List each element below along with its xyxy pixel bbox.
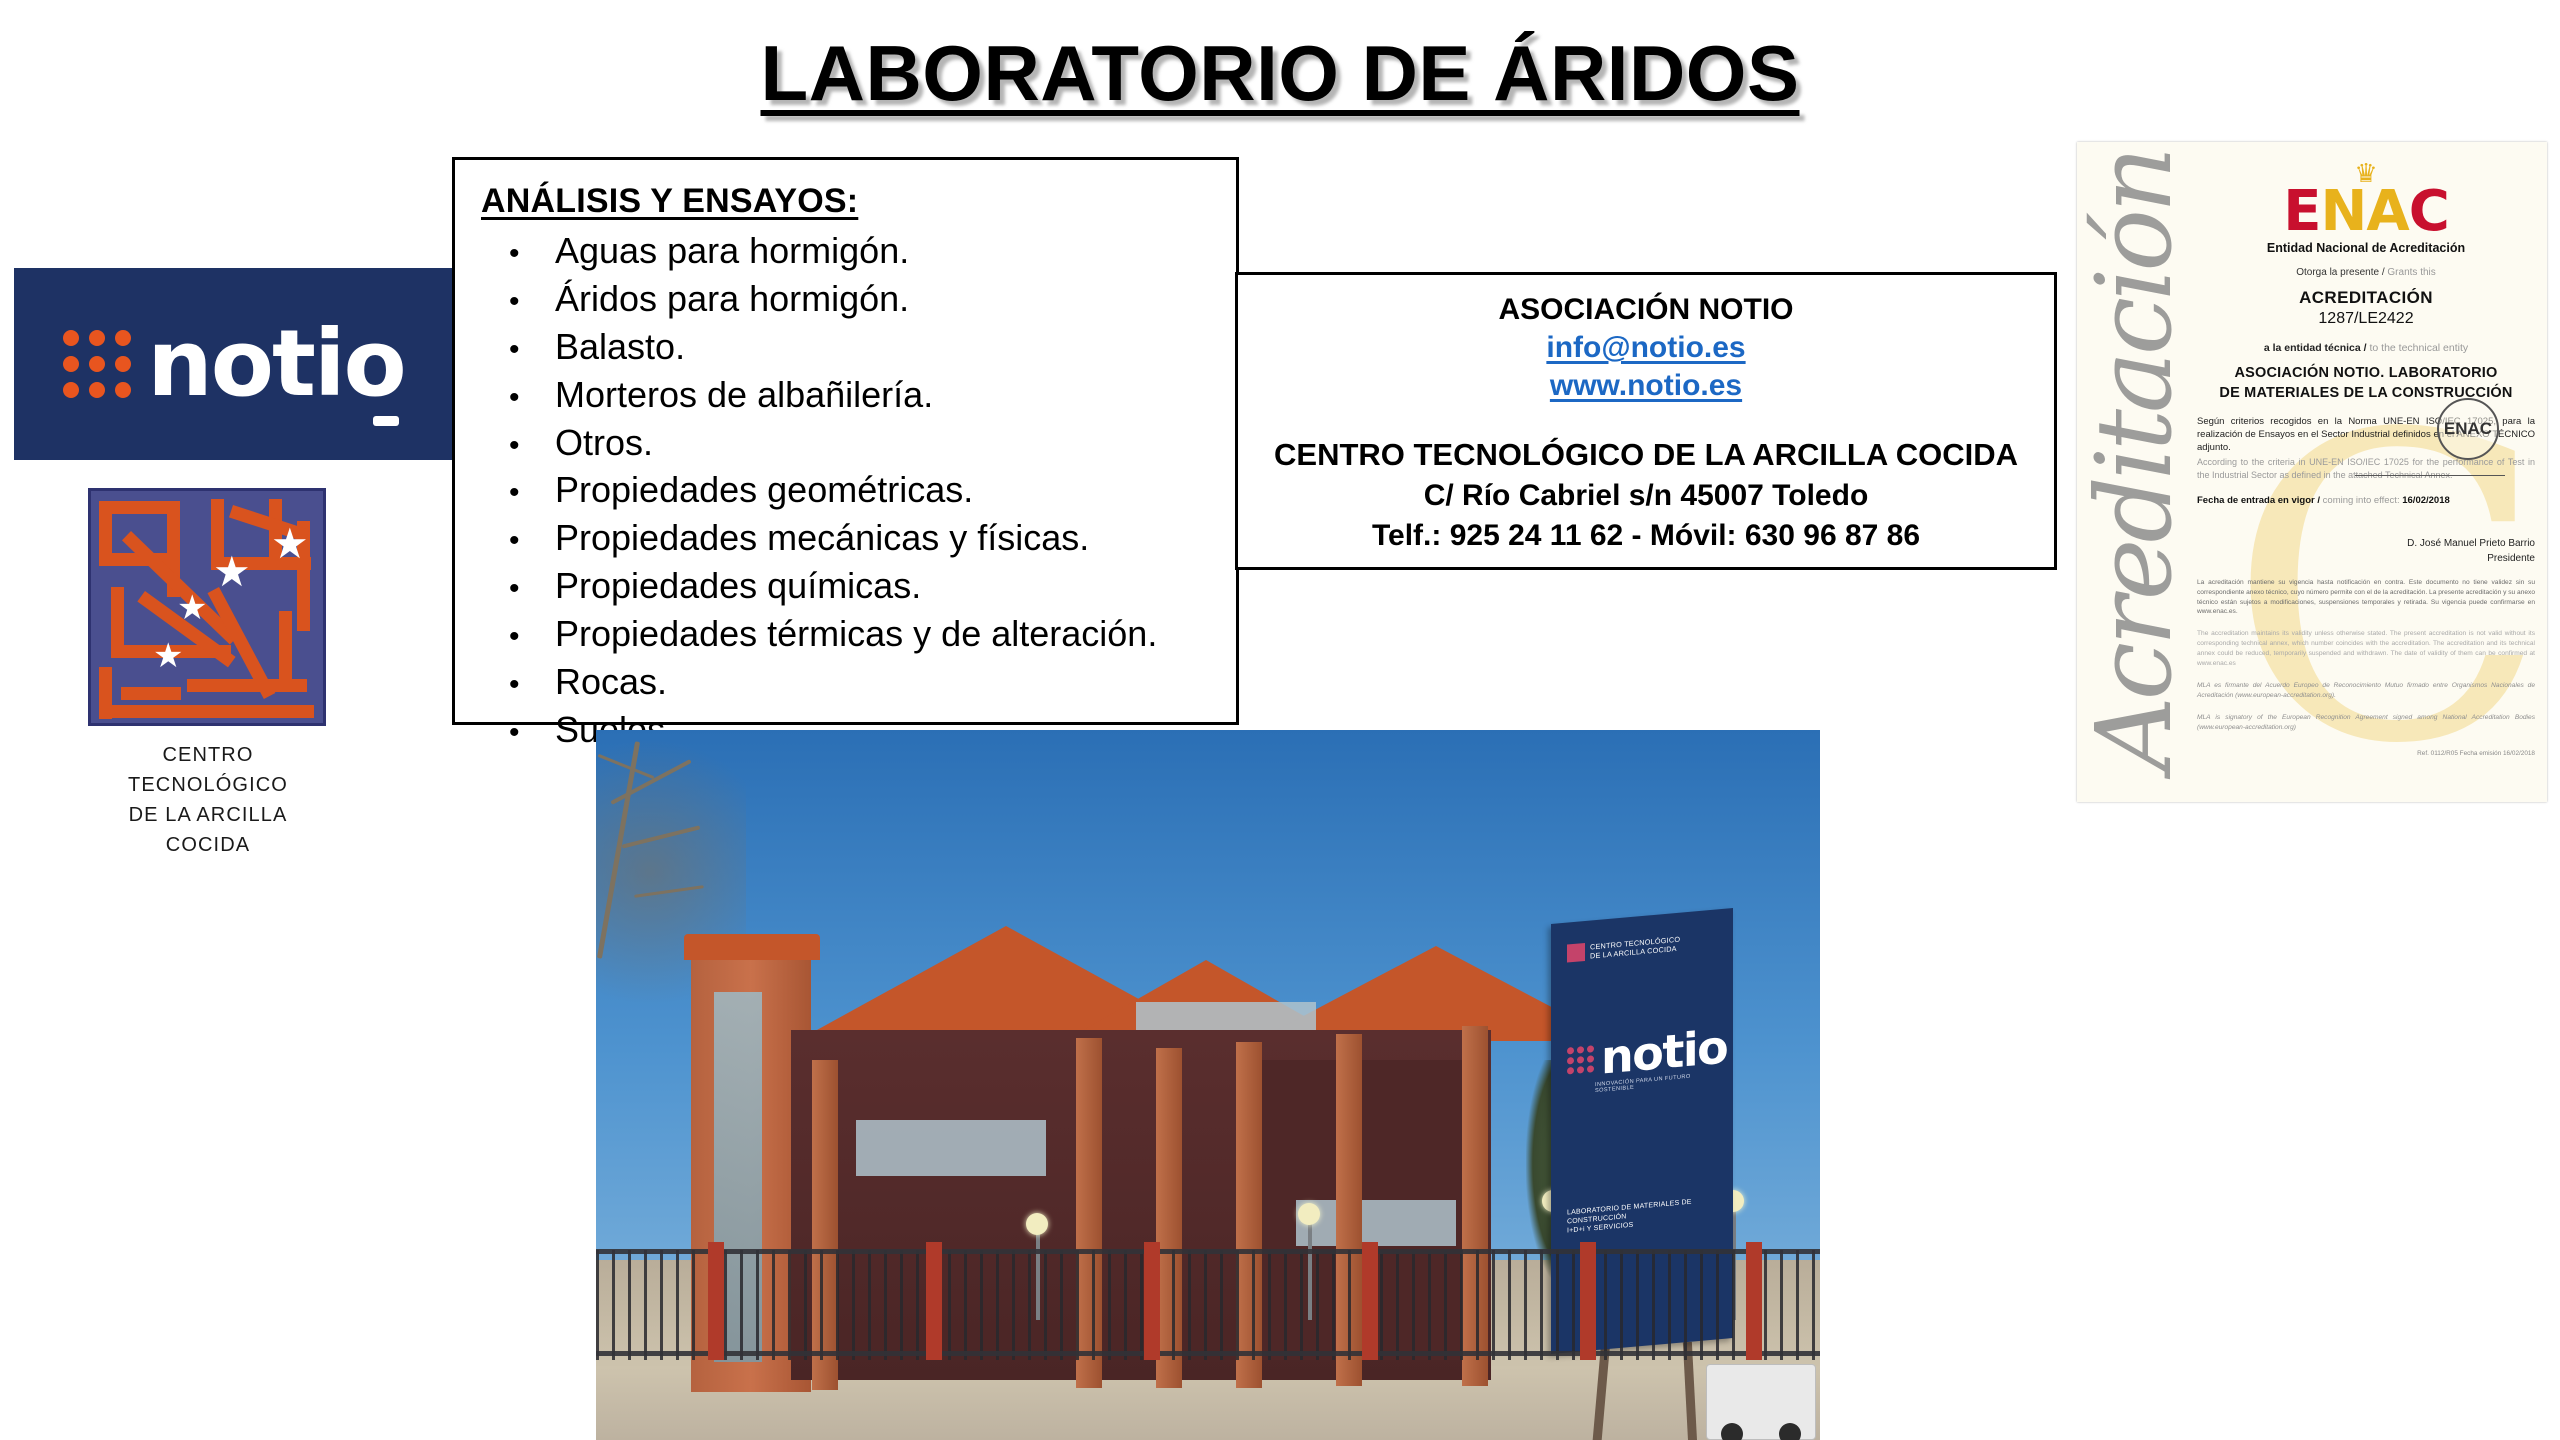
fence-post bbox=[926, 1242, 942, 1360]
slide-canvas: LABORATORIO DE ÁRIDOS notio bbox=[0, 0, 2560, 1440]
email-link[interactable]: info@notio.es bbox=[1238, 331, 2054, 365]
accredited-entity: ASOCIACIÓN NOTIO. LABORATORIO DE MATERIA… bbox=[2197, 364, 2535, 403]
phone-numbers: Telf.: 925 24 11 62 - Móvil: 630 96 87 8… bbox=[1238, 519, 2054, 553]
signature-line bbox=[2355, 460, 2505, 476]
list-item: •Morteros de albañilería. bbox=[481, 371, 1218, 419]
effective-date-value: 16/02/2018 bbox=[2402, 495, 2450, 506]
certificate-footer-ref: Ref. 0112/R05 Fecha emisión 16/02/2018 bbox=[2197, 750, 2535, 757]
list-item-label: Propiedades térmicas y de alteración. bbox=[555, 610, 1157, 658]
list-item-label: Otros. bbox=[555, 419, 653, 467]
center-name: CENTRO TECNOLÓGICO DE LA ARCILLA COCIDA bbox=[1238, 437, 2054, 473]
analysis-heading: ANÁLISIS Y ENSAYOS: bbox=[481, 182, 1218, 221]
bullet-icon: • bbox=[509, 234, 555, 274]
accreditation-number: 1287/LE2422 bbox=[2197, 310, 2535, 328]
entity-label: a la entidad técnica / to the technical … bbox=[2197, 342, 2535, 354]
enac-letter-a: A bbox=[2366, 179, 2408, 244]
list-item: •Propiedades geométricas. bbox=[481, 466, 1218, 514]
postal-address: C/ Río Cabriel s/n 45007 Toledo bbox=[1238, 479, 2054, 513]
list-item: •Propiedades térmicas y de alteración. bbox=[481, 610, 1218, 658]
bullet-icon: • bbox=[509, 378, 555, 418]
sign-bottom-text: LABORATORIO DE MATERIALES DE CONSTRUCCIÓ… bbox=[1567, 1195, 1721, 1236]
bullet-icon: • bbox=[509, 665, 555, 705]
fence-rail bbox=[596, 1351, 1820, 1356]
contact-info-box: ASOCIACIÓN NOTIO info@notio.es www.notio… bbox=[1235, 272, 2057, 570]
fence-post bbox=[1580, 1242, 1596, 1360]
notio-wordmark: notio bbox=[147, 318, 404, 410]
nine-dot-grid-icon bbox=[1567, 1046, 1594, 1075]
list-item-label: Propiedades geométricas. bbox=[555, 466, 973, 514]
list-item: •Balasto. bbox=[481, 323, 1218, 371]
entity-label-en: to the technical entity bbox=[2369, 342, 2468, 354]
fine-print-mla-es: MLA es firmante del Acuerdo Europeo de R… bbox=[2197, 681, 2535, 701]
list-item-label: Propiedades mecánicas y físicas. bbox=[555, 514, 1089, 562]
president-name: D. José Manuel Prieto Barrio bbox=[2197, 536, 2535, 551]
headquarters-photo: CENTRO TECNOLÓGICO DE LA ARCILLA COCIDA … bbox=[596, 730, 1820, 1440]
list-item-label: Propiedades químicas. bbox=[555, 562, 921, 610]
bullet-icon: • bbox=[509, 569, 555, 609]
entity-label-es: a la entidad técnica / bbox=[2264, 342, 2367, 354]
list-item: •Propiedades químicas. bbox=[481, 562, 1218, 610]
list-item-label: Aguas para hormigón. bbox=[555, 227, 909, 275]
list-item: •Otros. bbox=[481, 419, 1218, 467]
accreditation-label: ACREDITACIÓN bbox=[2197, 288, 2535, 308]
enac-stamp-icon: ENAC bbox=[2437, 398, 2499, 460]
ctac-caption-line-1: CENTRO TECNOLÓGICO bbox=[88, 740, 328, 800]
window-band bbox=[856, 1120, 1046, 1176]
website-link[interactable]: www.notio.es bbox=[1238, 369, 2054, 403]
window-band bbox=[1136, 1002, 1316, 1030]
sign-ctac-text: CENTRO TECNOLÓGICO DE LA ARCILLA COCIDA bbox=[1590, 935, 1680, 961]
ctac-tile-icon bbox=[1567, 943, 1585, 963]
grants-label: Otorga la presente / Grants this bbox=[2197, 267, 2535, 278]
lamp-globe bbox=[1298, 1203, 1320, 1225]
enac-stamp-text: ENAC bbox=[2444, 419, 2492, 439]
bullet-icon: • bbox=[509, 330, 555, 370]
list-item: •Propiedades mecánicas y físicas. bbox=[481, 514, 1218, 562]
enac-accreditation-certificate: Acreditación C ♛ ENAC Entidad Nacional d… bbox=[2077, 142, 2547, 802]
list-item-label: Áridos para hormigón. bbox=[555, 275, 909, 323]
organization-name: ASOCIACIÓN NOTIO bbox=[1238, 293, 2054, 327]
fine-print-es: La acreditación mantiene su vigencia has… bbox=[2197, 578, 2535, 618]
lightbulb-stem-icon bbox=[373, 416, 399, 426]
list-item-label: Morteros de albañilería. bbox=[555, 371, 933, 419]
bullet-icon: • bbox=[509, 521, 555, 561]
sign-notio-block: notio bbox=[1567, 1027, 1721, 1082]
list-item: •Aguas para hormigón. bbox=[481, 227, 1218, 275]
nine-dot-grid-icon bbox=[63, 330, 131, 398]
fine-print-mla-en: MLA is signatory of the European Recogni… bbox=[2197, 713, 2535, 733]
enac-letter-n: N bbox=[2320, 179, 2366, 244]
page-title: LABORATORIO DE ÁRIDOS bbox=[0, 28, 2560, 119]
parked-truck bbox=[1706, 1364, 1816, 1440]
fence-post bbox=[1746, 1242, 1762, 1360]
notio-logo: notio bbox=[14, 268, 454, 460]
ctac-logo: ★ ★ ★ ★ CENTRO TECNOLÓGICO DE LA ARCILLA… bbox=[88, 488, 328, 860]
effective-date-row: Fecha de entrada en vigor / coming into … bbox=[2197, 495, 2535, 506]
sign-notio-wordmark: notio bbox=[1601, 1027, 1727, 1079]
enac-letter-c: C bbox=[2409, 179, 2449, 244]
tower-roof bbox=[684, 934, 820, 960]
list-item: •Áridos para hormigón. bbox=[481, 275, 1218, 323]
analysis-and-tests-box: ANÁLISIS Y ENSAYOS: •Aguas para hormigón… bbox=[452, 157, 1239, 725]
lamp-globe bbox=[1026, 1213, 1048, 1235]
enac-letter-e: E bbox=[2283, 179, 2320, 244]
ctac-caption-line-2: DE LA ARCILLA COCIDA bbox=[88, 800, 328, 860]
enac-subtitle: Entidad Nacional de Acreditación bbox=[2197, 241, 2535, 255]
effective-label-es: Fecha de entrada en vigor / bbox=[2197, 495, 2320, 506]
bullet-icon: • bbox=[509, 713, 555, 753]
certificate-watermark: Acreditación bbox=[2077, 150, 2195, 771]
ctac-tile-pattern-icon: ★ ★ ★ ★ bbox=[88, 488, 326, 726]
entity-line-2: DE MATERIALES DE LA CONSTRUCCIÓN bbox=[2197, 384, 2535, 404]
fence-post bbox=[1362, 1242, 1378, 1360]
window-band bbox=[1296, 1200, 1456, 1246]
fence-rail bbox=[596, 1249, 1820, 1254]
fence-post bbox=[708, 1242, 724, 1360]
president-title: Presidente bbox=[2197, 551, 2535, 566]
perimeter-fence bbox=[596, 1250, 1820, 1360]
effective-label-en: coming into effect: bbox=[2323, 495, 2400, 506]
president-block: D. José Manuel Prieto Barrio Presidente bbox=[2197, 536, 2535, 566]
spacer bbox=[1238, 403, 2054, 437]
list-item-label: Balasto. bbox=[555, 323, 685, 371]
ctac-logo-caption: CENTRO TECNOLÓGICO DE LA ARCILLA COCIDA bbox=[88, 740, 328, 860]
analysis-list: •Aguas para hormigón. •Áridos para hormi… bbox=[481, 227, 1218, 754]
bullet-icon: • bbox=[509, 282, 555, 322]
list-item: •Rocas. bbox=[481, 658, 1218, 706]
grants-label-en: Grants this bbox=[2387, 267, 2435, 278]
fence-post bbox=[1144, 1242, 1160, 1360]
grants-label-es: Otorga la presente / bbox=[2296, 267, 2384, 278]
enac-logo: ENAC bbox=[2197, 184, 2535, 240]
entity-line-1: ASOCIACIÓN NOTIO. LABORATORIO bbox=[2197, 364, 2535, 384]
bullet-icon: • bbox=[509, 617, 555, 657]
bullet-icon: • bbox=[509, 473, 555, 513]
sign-ctac-block: CENTRO TECNOLÓGICO DE LA ARCILLA COCIDA bbox=[1567, 931, 1721, 963]
notio-wordmark-text: notio bbox=[147, 310, 404, 417]
fine-print-en: The accreditation maintains its validity… bbox=[2197, 629, 2535, 669]
bullet-icon: • bbox=[509, 426, 555, 466]
list-item-label: Rocas. bbox=[555, 658, 667, 706]
